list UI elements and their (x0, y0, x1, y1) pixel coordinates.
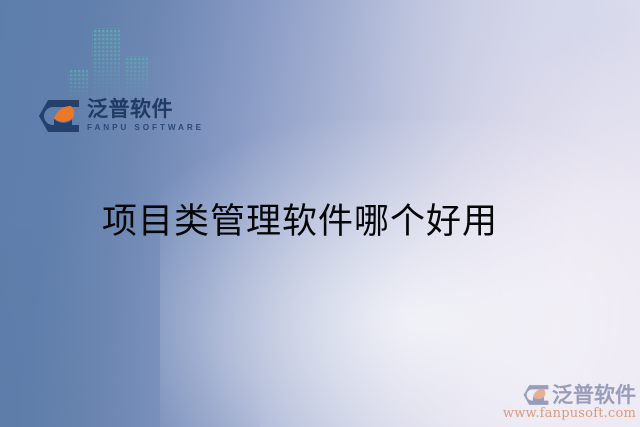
watermark-url: www.fanpusoft.com (496, 407, 636, 420)
brand-wordmark: 泛普软件 FANPU SOFTWARE (87, 99, 204, 132)
watermark-name-cn: 泛普软件 (552, 385, 636, 406)
slide-canvas: 泛普软件 FANPU SOFTWARE 项目类管理软件哪个好用 泛普软件 www… (0, 0, 640, 427)
fanpu-logo-mark-icon (38, 99, 80, 133)
pixel-skyline-decoration (66, 26, 162, 98)
watermark: 泛普软件 www.fanpusoft.com (496, 384, 636, 420)
brand-logo: 泛普软件 FANPU SOFTWARE (38, 99, 204, 133)
page-title: 项目类管理软件哪个好用 (0, 198, 600, 246)
fanpu-watermark-mark-icon (523, 384, 549, 406)
watermark-logo-row: 泛普软件 (496, 384, 636, 406)
brand-name-cn: 泛普软件 (87, 99, 204, 120)
brand-name-en: FANPU SOFTWARE (87, 124, 204, 132)
